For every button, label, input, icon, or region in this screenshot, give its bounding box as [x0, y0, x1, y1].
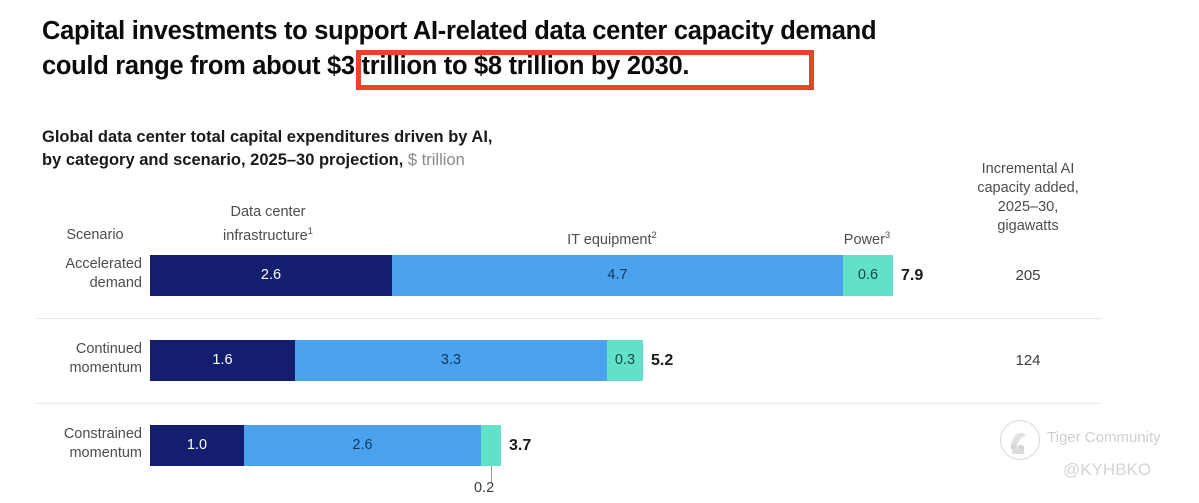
bar-value-dci: 1.0 [187, 438, 207, 453]
column-header-power: Power3 [792, 226, 942, 250]
gw-header-line1: Incremental AI [982, 161, 1075, 177]
bar-value-dci: 2.6 [261, 268, 281, 283]
gw-header-line2: capacity added, [977, 180, 1079, 196]
callout-value-power: 0.2 [474, 480, 494, 496]
column-header-incremental-ai-capacity: Incremental AI capacity added, 2025–30, … [948, 160, 1108, 236]
column-header-power-label: Power [844, 232, 885, 248]
column-header-dci-line2: infrastructure [223, 228, 308, 244]
stacked-bar-constrained-momentum: 1.0 2.6 0.2 [150, 425, 501, 466]
row-label-continued-momentum: Continued momentum [18, 340, 142, 378]
gigawatts-value-accelerated-demand: 205 [948, 255, 1108, 296]
bar-segment-it-equipment: 2.6 [244, 425, 481, 466]
bar-segment-it-equipment: 3.3 [295, 340, 607, 381]
bar-segment-power: 0.6 [843, 255, 893, 296]
gw-header-line4: gigawatts [997, 218, 1058, 234]
gigawatts-value-constrained-momentum [948, 425, 1108, 466]
column-header-scenario: Scenario [36, 226, 154, 245]
row-label-line1: Constrained [64, 426, 142, 442]
column-header-it-equipment: IT equipment2 [500, 226, 724, 250]
bar-value-it: 2.6 [352, 438, 372, 453]
bar-segment-data-center-infrastructure: 2.6 [150, 255, 392, 296]
bar-total-constrained-momentum: 3.7 [509, 425, 531, 466]
bar-segment-data-center-infrastructure: 1.6 [150, 340, 295, 381]
bar-value-it: 4.7 [607, 268, 627, 283]
footnote-marker-2: 2 [652, 230, 657, 241]
bar-total-accelerated-demand: 7.9 [901, 255, 923, 296]
footnote-marker-1: 1 [308, 226, 313, 237]
gigawatts-value-continued-momentum: 124 [948, 340, 1108, 381]
row-label-accelerated-demand: Accelerated demand [18, 255, 142, 293]
stacked-bar-accelerated-demand: 2.6 4.7 0.6 [150, 255, 893, 296]
gw-header-line3: 2025–30, [998, 199, 1058, 215]
row-label-constrained-momentum: Constrained momentum [18, 425, 142, 463]
bar-value-power: 0.6 [858, 268, 878, 283]
row-label-line1: Continued [76, 341, 142, 357]
bar-segment-data-center-infrastructure: 1.0 [150, 425, 244, 466]
row-label-line2: momentum [69, 445, 142, 461]
column-header-data-center-infrastructure: Data center infrastructure1 [180, 203, 356, 246]
footnote-marker-3: 3 [885, 230, 890, 241]
bar-segment-power: 0.2 [481, 425, 501, 466]
row-separator [36, 403, 1101, 404]
row-separator [36, 318, 1101, 319]
bar-value-it: 3.3 [441, 353, 461, 368]
column-header-dci-line1: Data center [231, 204, 306, 220]
bar-value-power: 0.3 [615, 353, 635, 368]
bar-total-continued-momentum: 5.2 [651, 340, 673, 381]
column-header-it-label: IT equipment [567, 232, 651, 248]
row-label-line2: demand [90, 275, 142, 291]
row-label-line1: Accelerated [65, 256, 142, 272]
bar-segment-it-equipment: 4.7 [392, 255, 843, 296]
bar-segment-power: 0.3 [607, 340, 643, 381]
row-label-line2: momentum [69, 360, 142, 376]
stacked-bar-chart: Scenario Data center infrastructure1 IT … [0, 0, 1199, 503]
bar-value-dci: 1.6 [212, 353, 232, 368]
stacked-bar-continued-momentum: 1.6 3.3 0.3 [150, 340, 643, 381]
